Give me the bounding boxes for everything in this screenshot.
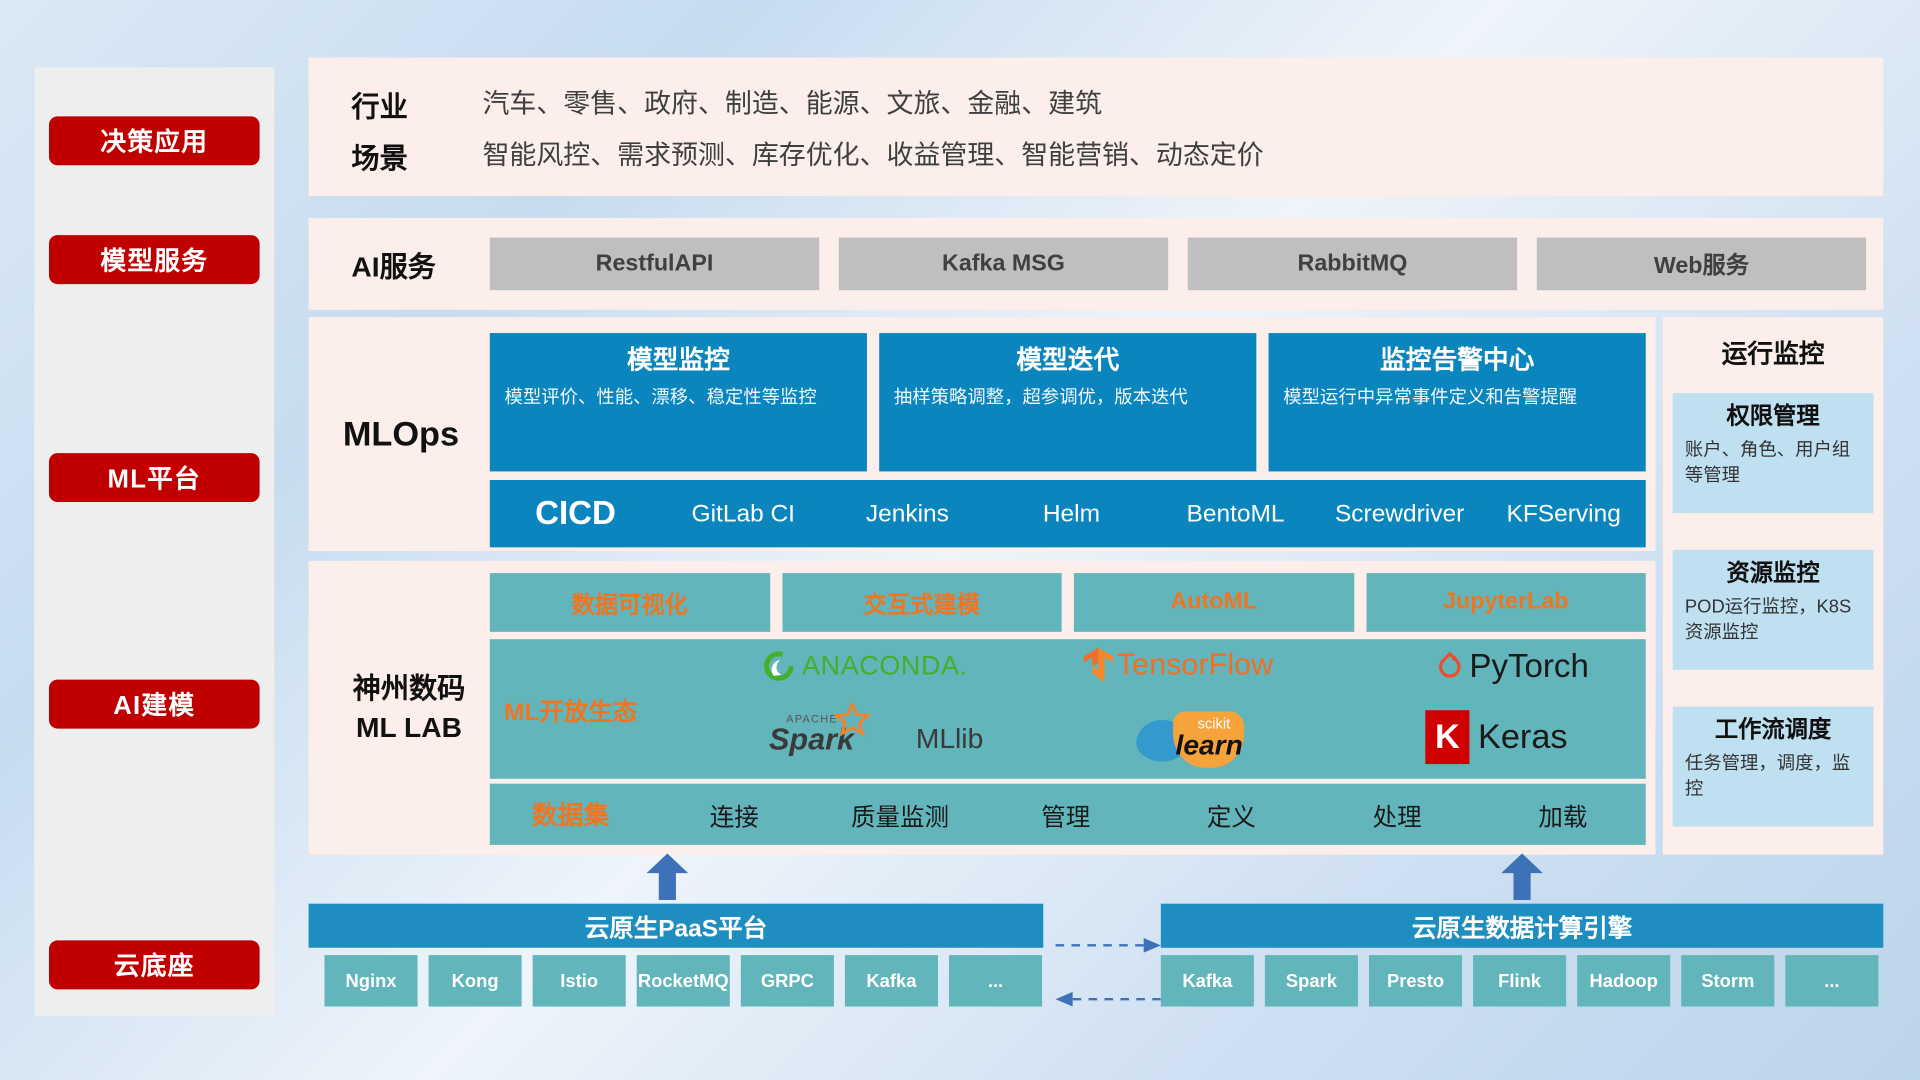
tool-chip-automl[interactable]: AutoML [1074,573,1354,632]
card-desc: POD运行监控，K8S资源监控 [1685,594,1861,645]
ai-service-label: AI服务 [351,218,435,310]
card-desc: 模型评价、性能、漂移、稳定性等监控 [504,384,852,411]
ai-service-chip-web-service[interactable]: Web服务 [1537,238,1866,291]
dataset-item-load[interactable]: 加载 [1480,797,1646,833]
engine-chip-presto[interactable]: Presto [1369,955,1462,1006]
ai-service-chip-kafka-msg[interactable]: Kafka MSG [839,238,1168,291]
ecosystem-logo-grid: ANACONDA. TensorFlow [651,639,1645,779]
engine-chip-hadoop[interactable]: Hadoop [1577,955,1670,1006]
pytorch-logo-text: PyTorch [1469,648,1588,686]
pytorch-logo: PyTorch [1435,648,1589,686]
tool-chip-interactive-modeling[interactable]: 交互式建模 [782,573,1062,632]
cloud-native-paas-bar[interactable]: 云原生PaaS平台 [309,904,1044,948]
chip-label: RabbitMQ [1298,250,1408,277]
runtime-monitor-column: 运行监控 权限管理 账户、角色、用户组等管理 资源监控 POD运行监控，K8S资… [1663,317,1883,855]
mlops-card-list: 模型监控 模型评价、性能、漂移、稳定性等监控 模型迭代 抽样策略调整，超参调优，… [490,333,1646,471]
ml-lab-label-line1: 神州数码 [353,669,466,708]
ml-open-ecosystem: ML开放生态 ANACONDA. [490,639,1646,779]
card-desc: 模型运行中异常事件定义和告警提醒 [1283,384,1631,411]
rail-item-cloud-base[interactable]: 云底座 [49,940,260,989]
keras-logo-badge: K [1425,710,1469,764]
monitor-card-workflow[interactable]: 工作流调度 任务管理，调度，监控 [1673,707,1874,827]
card-title: 模型迭代 [894,343,1242,380]
monitor-card-resource[interactable]: 资源监控 POD运行监控，K8S资源监控 [1673,550,1874,670]
paas-chip-row: Nginx Kong Istio RocketMQ GRPC Kafka ... [324,955,1042,1006]
cicd-item-jenkins[interactable]: Jenkins [825,495,989,532]
paas-chip-more[interactable]: ... [949,955,1042,1006]
paas-chip-nginx[interactable]: Nginx [324,955,417,1006]
card-desc: 任务管理，调度，监控 [1685,751,1861,802]
cicd-title: CICD [490,495,661,533]
scenario-value: 智能风控、需求预测、库存优化、收益管理、智能营销、动态定价 [482,133,1263,177]
industry-label: 行业 [351,82,407,126]
ml-open-ecosystem-label: ML开放生态 [490,691,652,727]
chip-label: Web服务 [1654,247,1749,280]
rail-item-label: 决策应用 [100,122,208,159]
ai-modeling-band: 神州数码 ML LAB 数据可视化 交互式建模 AutoML JupyterLa… [309,561,1656,855]
dataset-item-connect[interactable]: 连接 [651,797,817,833]
chip-label: Kafka MSG [942,250,1065,277]
cloud-native-data-engine-bar[interactable]: 云原生数据计算引擎 [1161,904,1883,948]
tensorflow-logo: TensorFlow [1082,647,1273,684]
engine-chip-storm[interactable]: Storm [1681,955,1774,1006]
ai-service-chip-rabbitmq[interactable]: RabbitMQ [1188,238,1517,291]
mlops-label: MLOps [343,317,459,551]
keras-logo: K Keras [1425,710,1567,764]
engine-chip-flink[interactable]: Flink [1473,955,1566,1006]
paas-chip-kong[interactable]: Kong [429,955,522,1006]
mlops-card-alert-center[interactable]: 监控告警中心 模型运行中异常事件定义和告警提醒 [1269,333,1646,471]
rail-item-model-service[interactable]: 模型服务 [49,235,260,284]
cicd-item-screwdriver[interactable]: Screwdriver [1318,495,1482,532]
ai-service-chip-restfulapi[interactable]: RestfulAPI [490,238,819,291]
industry-value: 汽车、零售、政府、制造、能源、文旅、金融、建筑 [482,82,1102,126]
ml-lab-label: 神州数码 ML LAB [333,561,485,855]
up-arrow-icon-engine [1501,853,1543,900]
dataset-item-process[interactable]: 处理 [1314,797,1480,833]
keras-logo-text: Keras [1478,718,1568,757]
tool-chip-data-visualization[interactable]: 数据可视化 [490,573,770,632]
cicd-item-bentoml[interactable]: BentoML [1153,495,1317,532]
paas-chip-istio[interactable]: Istio [533,955,626,1006]
spark-mllib-logo: APACHE Spark MLlib [769,710,983,766]
engine-chip-kafka[interactable]: Kafka [1161,955,1254,1006]
cicd-item-kfserving[interactable]: KFServing [1482,495,1646,532]
card-title: 监控告警中心 [1283,343,1631,380]
dataset-title: 数据集 [490,796,652,833]
engine-chip-spark[interactable]: Spark [1265,955,1358,1006]
card-desc: 账户、角色、用户组等管理 [1685,437,1861,488]
modeling-tool-list: 数据可视化 交互式建模 AutoML JupyterLab [490,573,1646,632]
dataset-row: 数据集 连接 质量监测 管理 定义 处理 加载 [490,784,1646,845]
dataset-item-define[interactable]: 定义 [1149,797,1315,833]
dataset-item-quality[interactable]: 质量监测 [817,797,983,833]
card-title: 模型监控 [504,343,852,380]
runtime-monitor-title: 运行监控 [1663,317,1883,371]
card-title: 权限管理 [1685,402,1861,434]
rail-item-label: 云底座 [114,947,195,984]
ai-service-band: AI服务 RestfulAPI Kafka MSG RabbitMQ Web服务 [309,218,1884,310]
anaconda-logo-text: ANACONDA. [802,650,968,682]
paas-chip-grpc[interactable]: GRPC [741,955,834,1006]
left-rail: 决策应用 模型服务 ML平台 AI建模 云底座 [34,67,274,1016]
engine-chip-row: Kafka Spark Presto Flink Hadoop Storm ..… [1161,955,1879,1006]
learn-text: learn [1176,729,1243,762]
tool-chip-jupyterlab[interactable]: JupyterLab [1366,573,1646,632]
card-title: 工作流调度 [1685,715,1861,747]
scikit-learn-logo: scikit learn [1136,710,1295,769]
card-desc: 抽样策略调整，超参调优，版本迭代 [894,384,1242,411]
chip-label: RestfulAPI [596,250,714,277]
rail-item-ml-platform[interactable]: ML平台 [49,453,260,502]
card-title: 资源监控 [1685,558,1861,590]
engine-chip-more[interactable]: ... [1785,955,1878,1006]
cicd-item-gitlab-ci[interactable]: GitLab CI [661,495,825,532]
mlops-card-model-monitoring[interactable]: 模型监控 模型评价、性能、漂移、稳定性等监控 [490,333,867,471]
rail-item-label: ML平台 [108,459,201,496]
mllib-text: MLlib [916,722,983,755]
rail-item-decision-app[interactable]: 决策应用 [49,116,260,165]
paas-chip-rocketmq[interactable]: RocketMQ [637,955,730,1006]
up-arrow-icon-paas [647,853,689,900]
industry-scenario-band: 行业 汽车、零售、政府、制造、能源、文旅、金融、建筑 场景 智能风控、需求预测、… [309,58,1884,196]
rail-item-ai-modeling[interactable]: AI建模 [49,680,260,729]
mlops-card-model-iteration[interactable]: 模型迭代 抽样策略调整，超参调优，版本迭代 [879,333,1256,471]
rail-item-label: AI建模 [113,686,195,723]
anaconda-logo: ANACONDA. [762,649,968,683]
dashed-arrow-right-icon [1056,931,1161,967]
tensorflow-logo-text: TensorFlow [1117,647,1274,683]
cicd-bar: CICD GitLab CI Jenkins Helm BentoML Scre… [490,480,1646,547]
scenario-label: 场景 [351,133,407,177]
rail-item-label: 模型服务 [100,241,208,278]
ml-lab-label-line2: ML LAB [353,708,466,747]
monitor-card-permission[interactable]: 权限管理 账户、角色、用户组等管理 [1673,393,1874,513]
paas-chip-kafka[interactable]: Kafka [845,955,938,1006]
cicd-item-list: GitLab CI Jenkins Helm BentoML Screwdriv… [661,495,1645,532]
dataset-item-manage[interactable]: 管理 [983,797,1149,833]
cicd-item-helm[interactable]: Helm [989,495,1153,532]
dashed-arrow-left-icon [1056,984,1161,1020]
ai-service-chip-list: RestfulAPI Kafka MSG RabbitMQ Web服务 [490,218,1866,310]
mlops-band: MLOps 模型监控 模型评价、性能、漂移、稳定性等监控 模型迭代 抽样策略调整… [309,317,1656,551]
